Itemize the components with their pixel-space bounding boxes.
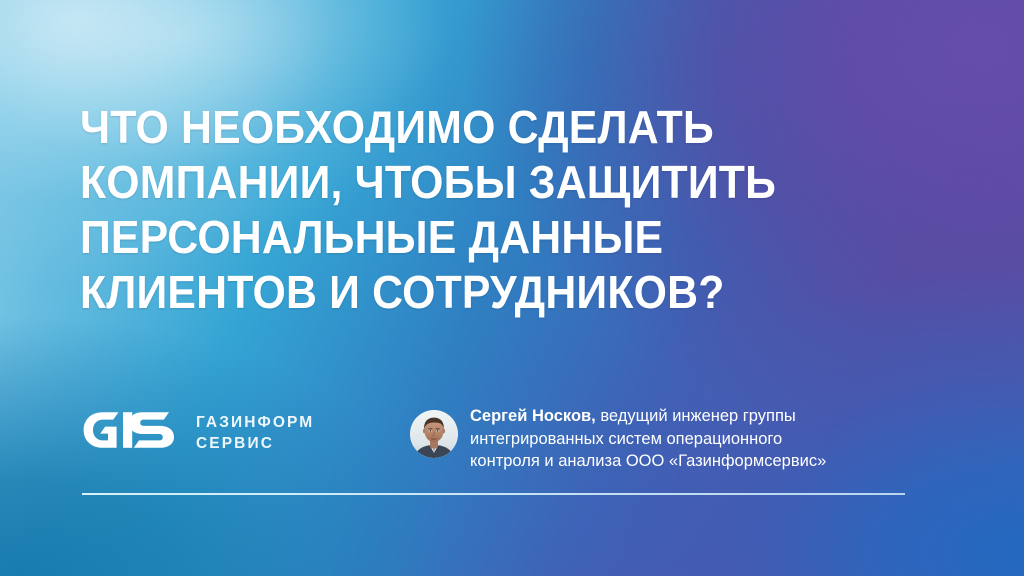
speaker-avatar [410,410,458,458]
speaker-line-3: контроля и анализа ООО «Газинформсервис» [470,450,940,473]
gis-wordmark: ГАЗИНФОРМ СЕРВИС [196,412,314,453]
footer-divider [82,493,905,495]
speaker-name: Сергей Носков, [470,407,596,425]
headline-line-1: ЧТО НЕОБХОДИМО СДЕЛАТЬ [80,100,852,155]
speaker-line-1: Сергей Носков, ведущий инженер группы [470,405,940,428]
speaker-title-part-1: ведущий инженер группы [596,407,796,425]
slide-footer: ГАЗИНФОРМ СЕРВИС [0,396,1024,506]
speaker-line-2: интегрированных систем операционного [470,428,940,451]
slide-headline: ЧТО НЕОБХОДИМО СДЕЛАТЬ КОМПАНИИ, ЧТОБЫ З… [80,100,910,320]
wordmark-line-1: ГАЗИНФОРМ [196,414,314,432]
wordmark-line-2: СЕРВИС [196,435,314,453]
gis-logo-mark-icon [82,410,182,455]
headline-line-4: КЛИЕНТОВ И СОТРУДНИКОВ? [80,265,852,320]
speaker-info: Сергей Носков, ведущий инженер группы ин… [470,405,940,473]
presentation-slide: ЧТО НЕОБХОДИМО СДЕЛАТЬ КОМПАНИИ, ЧТОБЫ З… [0,0,1024,576]
headline-line-3: ПЕРСОНАЛЬНЫЕ ДАННЫЕ [80,210,852,265]
gis-logo: ГАЗИНФОРМ СЕРВИС [82,410,314,455]
headline-line-2: КОМПАНИИ, ЧТОБЫ ЗАЩИТИТЬ [80,155,852,210]
